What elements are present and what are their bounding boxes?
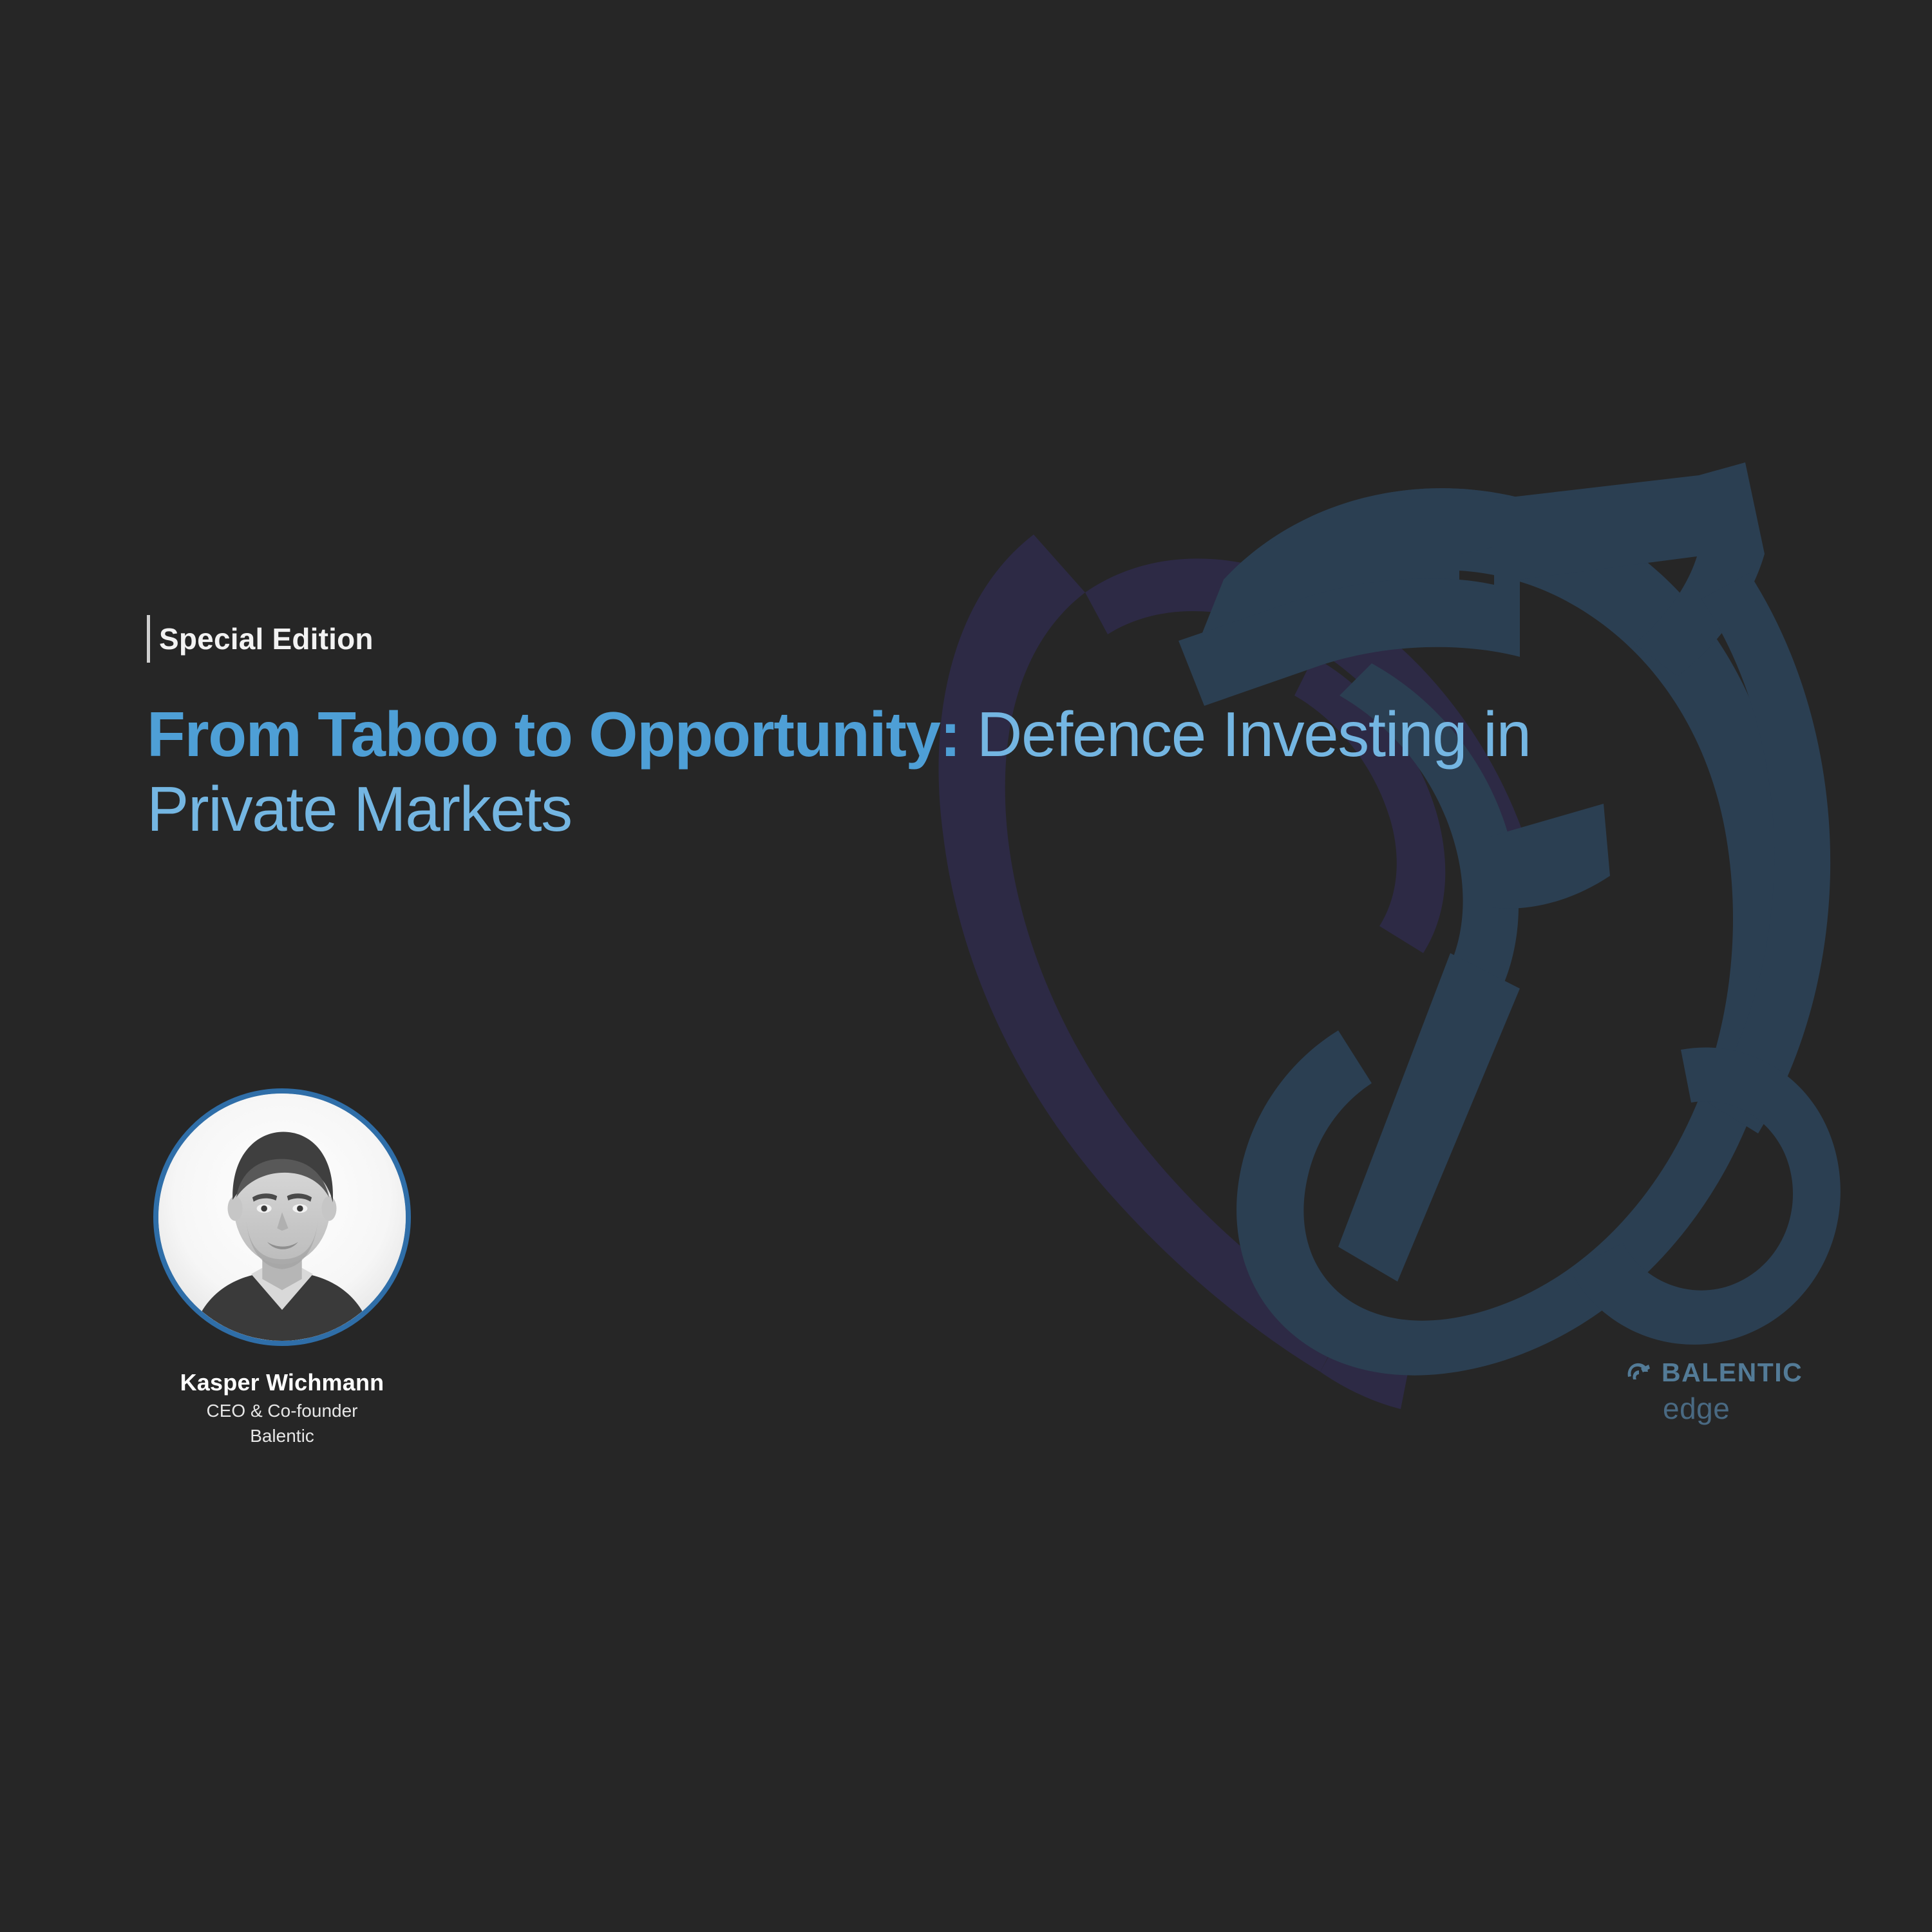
page-title-lead: From Taboo to Opportunity: [147, 699, 960, 770]
balentic-edge-logo: BALENTIC edge [1623, 1358, 1880, 1423]
eyebrow: Special Edition [147, 615, 1628, 663]
title-block: Special Edition From Taboo to Opportunit… [147, 615, 1628, 889]
avatar [153, 1088, 411, 1346]
page-title: From Taboo to Opportunity: Defence Inves… [147, 697, 1628, 846]
eyebrow-accent-bar [147, 615, 150, 663]
eyebrow-label: Special Edition [159, 615, 374, 663]
speaker-name: Kasper Wichmann [147, 1369, 417, 1396]
balentic-owl-watermark [921, 386, 1932, 1520]
logo-product-name: edge [1663, 1394, 1880, 1423]
logo-wordmark: BALENTIC [1662, 1359, 1803, 1386]
speaker-card: Kasper Wichmann CEO & Co-founder Balenti… [147, 1088, 417, 1447]
speaker-company: Balentic [147, 1425, 417, 1447]
speaker-role: CEO & Co-founder [147, 1400, 417, 1422]
title-slide: Special Edition From Taboo to Opportunit… [0, 0, 1932, 1932]
balentic-owl-icon [1623, 1358, 1653, 1387]
logo-top-row: BALENTIC [1623, 1358, 1880, 1387]
